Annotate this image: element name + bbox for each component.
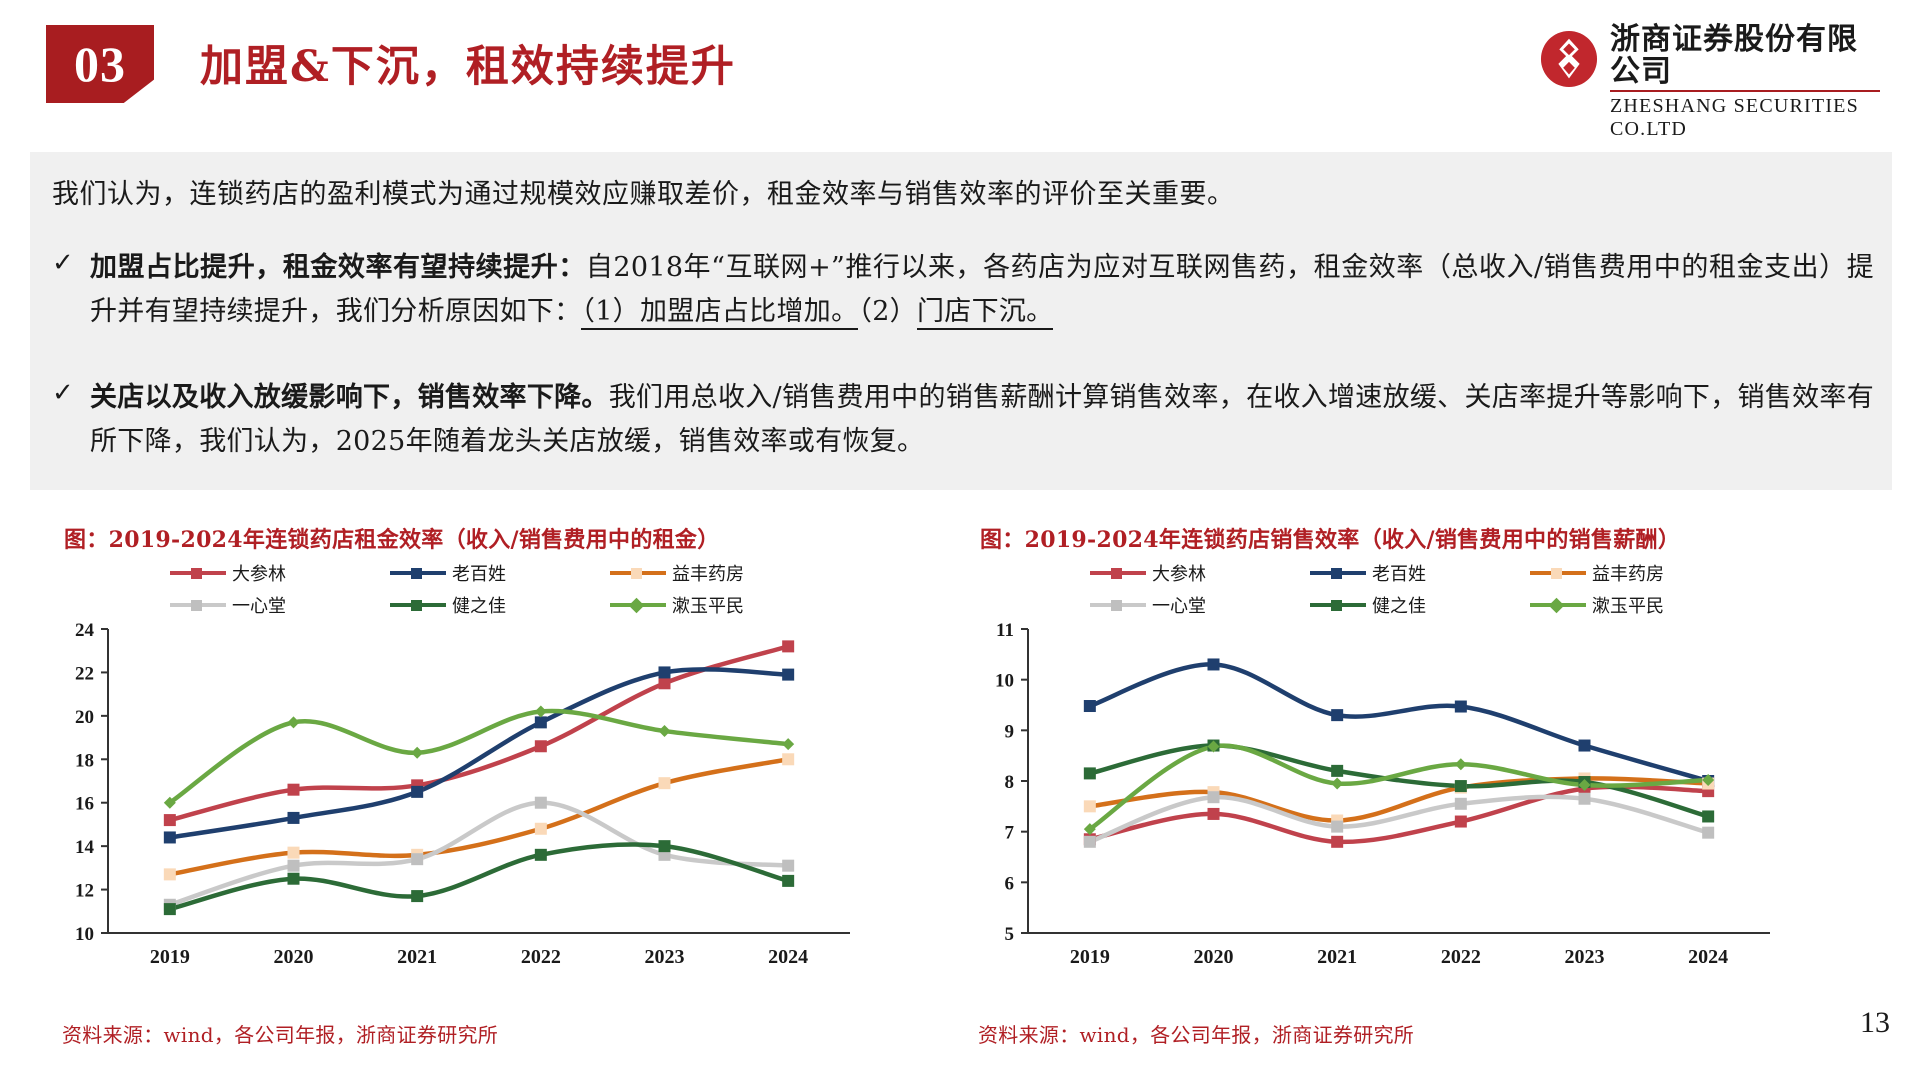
data-point (288, 784, 300, 796)
legend-swatch-icon (1530, 599, 1586, 611)
data-point (1455, 816, 1467, 828)
legend-item[interactable]: 老百姓 (1310, 560, 1530, 586)
legend-item[interactable]: 益丰药房 (610, 560, 830, 586)
data-point (411, 747, 423, 759)
data-point (1084, 836, 1096, 848)
y-tick-label: 5 (1005, 924, 1015, 945)
bullet-2-head: 关店以及收入放缓影响下，销售效率下降。 (90, 382, 609, 413)
bullet-1-underline-2: 门店下沉。 (917, 296, 1054, 330)
data-point (288, 812, 300, 824)
data-point (164, 831, 176, 843)
data-point (782, 669, 794, 681)
y-tick-label: 16 (75, 794, 94, 815)
legend-swatch-icon (610, 567, 666, 579)
summary-text-panel: 我们认为，连锁药店的盈利模式为通过规模效应赚取差价，租金效率与销售效率的评价至关… (30, 152, 1892, 490)
data-point (288, 847, 300, 859)
data-point (1579, 740, 1591, 752)
x-tick-label: 2020 (274, 946, 314, 968)
data-point (1702, 810, 1714, 822)
data-point (1455, 701, 1467, 713)
legend-label: 益丰药房 (1592, 560, 1664, 586)
chart-title: 图：2019-2024年连锁药店销售效率（收入/销售费用中的销售薪酬） (980, 522, 1680, 554)
zheshang-lotus-mark-icon (1540, 30, 1598, 88)
data-point (1084, 800, 1096, 812)
data-point (782, 860, 794, 872)
series-line-老百姓 (1090, 664, 1708, 781)
legend-swatch-icon (1090, 599, 1146, 611)
data-point (1331, 821, 1343, 833)
rent-efficiency-chart: 图：2019-2024年连锁药店租金效率（收入/销售费用中的租金） 大参林老百姓… (30, 500, 910, 1060)
bullet-item-2: ✓ 关店以及收入放缓影响下，销售效率下降。我们用总收入/销售费用中的销售薪酬计算… (52, 376, 1874, 463)
legend-item[interactable]: 大参林 (170, 560, 390, 586)
chart-plot-area: 1012141618202224201920202021202220232024 (30, 615, 910, 985)
x-tick-label: 2024 (1688, 946, 1728, 968)
data-point (411, 890, 423, 902)
data-point (782, 753, 794, 765)
y-tick-label: 6 (1005, 873, 1015, 894)
legend-swatch-icon (1310, 599, 1366, 611)
data-point (1208, 808, 1220, 820)
chart-source: 资料来源：wind，各公司年报，浙商证券研究所 (62, 1019, 498, 1048)
legend-item[interactable]: 老百姓 (390, 560, 610, 586)
data-point (288, 716, 300, 728)
data-point (535, 706, 547, 718)
data-point (535, 716, 547, 728)
legend-swatch-icon (170, 599, 226, 611)
x-tick-label: 2023 (1565, 946, 1605, 968)
data-point (1331, 836, 1343, 848)
data-point (288, 873, 300, 885)
chart-title: 图：2019-2024年连锁药店租金效率（收入/销售费用中的租金） (64, 522, 720, 554)
x-tick-label: 2020 (1194, 946, 1234, 968)
legend-label: 老百姓 (1372, 560, 1426, 586)
data-point (1208, 791, 1220, 803)
bullet-2-text: 关店以及收入放缓影响下，销售效率下降。我们用总收入/销售费用中的销售薪酬计算销售… (90, 376, 1874, 463)
data-point (535, 849, 547, 861)
section-number-badge: 03 (46, 25, 154, 103)
legend-label: 益丰药房 (672, 560, 744, 586)
logo-name-cn: 浙商证券股份有限公司 (1610, 24, 1880, 92)
x-tick-label: 2019 (150, 946, 190, 968)
series-line-老百姓 (170, 669, 788, 837)
y-tick-label: 9 (1005, 721, 1015, 742)
x-tick-label: 2021 (397, 946, 437, 968)
data-point (535, 823, 547, 835)
legend-item[interactable]: 益丰药房 (1530, 560, 1750, 586)
data-point (659, 840, 671, 852)
y-tick-label: 11 (996, 620, 1014, 641)
chart-source: 资料来源：wind，各公司年报，浙商证券研究所 (978, 1019, 1414, 1048)
y-tick-label: 20 (75, 707, 94, 728)
y-tick-label: 24 (75, 620, 95, 641)
data-point (288, 860, 300, 872)
page-title: 加盟&下沉，租效持续提升 (200, 32, 736, 94)
bullet-1-text: 加盟占比提升，租金效率有望持续提升：自2018年“互联网+”推行以来，各药店为应… (90, 246, 1874, 333)
data-point (782, 738, 794, 750)
check-icon: ✓ (52, 248, 74, 278)
x-tick-label: 2021 (1317, 946, 1357, 968)
data-point (1084, 767, 1096, 779)
legend-swatch-icon (390, 599, 446, 611)
legend-swatch-icon (170, 567, 226, 579)
bullet-item-1: ✓ 加盟占比提升，租金效率有望持续提升：自2018年“互联网+”推行以来，各药店… (52, 246, 1874, 333)
legend-label: 大参林 (1152, 560, 1206, 586)
x-tick-label: 2023 (645, 946, 685, 968)
x-tick-label: 2022 (1441, 946, 1481, 968)
y-tick-label: 14 (75, 837, 95, 858)
legend-swatch-icon (610, 599, 666, 611)
page-number: 13 (1860, 1006, 1890, 1040)
lead-paragraph: 我们认为，连锁药店的盈利模式为通过规模效应赚取差价，租金效率与销售效率的评价至关… (52, 176, 1874, 214)
x-tick-label: 2024 (768, 946, 808, 968)
y-tick-label: 22 (75, 663, 94, 684)
sales-efficiency-chart: 图：2019-2024年连锁药店销售效率（收入/销售费用中的销售薪酬） 大参林老… (950, 500, 1830, 1060)
data-point (1579, 793, 1591, 805)
data-point (411, 786, 423, 798)
legend-swatch-icon (1090, 567, 1146, 579)
legend-label: 老百姓 (452, 560, 506, 586)
data-point (1084, 700, 1096, 712)
data-point (1331, 778, 1343, 790)
bullet-1-head: 加盟占比提升，租金效率有望持续提升： (90, 252, 586, 283)
data-point (1455, 780, 1467, 792)
y-tick-label: 18 (75, 750, 94, 771)
data-point (659, 725, 671, 737)
data-point (782, 640, 794, 652)
y-tick-label: 7 (1005, 823, 1015, 844)
legend-label: 大参林 (232, 560, 286, 586)
data-point (164, 814, 176, 826)
legend-swatch-icon (1310, 567, 1366, 579)
y-tick-label: 10 (75, 924, 94, 945)
data-point (659, 677, 671, 689)
x-tick-label: 2022 (521, 946, 561, 968)
logo-name-en: ZHESHANG SECURITIES CO.LTD (1610, 95, 1880, 141)
company-logo: 浙商证券股份有限公司 ZHESHANG SECURITIES CO.LTD (1540, 20, 1880, 100)
data-point (535, 740, 547, 752)
data-point (1702, 827, 1714, 839)
chart-plot-area: 567891011201920202021202220232024 (950, 615, 1830, 985)
data-point (535, 797, 547, 809)
legend-swatch-icon (390, 567, 446, 579)
data-point (659, 777, 671, 789)
check-icon: ✓ (52, 378, 74, 408)
slide-header: 03 加盟&下沉，租效持续提升 浙商证券股份有限公司 ZHESHANG SECU… (0, 0, 1920, 120)
data-point (782, 875, 794, 887)
data-point (164, 903, 176, 915)
y-tick-label: 10 (995, 671, 1014, 692)
legend-swatch-icon (1530, 567, 1586, 579)
y-tick-label: 8 (1005, 772, 1015, 793)
series-line-健之佳 (170, 844, 788, 909)
chart-legend: 大参林老百姓益丰药房一心堂健之佳漱玉平民 (170, 560, 830, 618)
chart-legend: 大参林老百姓益丰药房一心堂健之佳漱玉平民 (1090, 560, 1750, 618)
y-tick-label: 12 (75, 881, 94, 902)
data-point (659, 666, 671, 678)
data-point (411, 853, 423, 865)
series-line-大参林 (1090, 787, 1708, 842)
bullet-1-underline-1: （1）加盟店占比增加。 (581, 296, 858, 330)
slide-page: 03 加盟&下沉，租效持续提升 浙商证券股份有限公司 ZHESHANG SECU… (0, 0, 1920, 1080)
series-line-益丰药房 (170, 759, 788, 874)
bullet-1-mid: （2） (858, 296, 917, 327)
data-point (1331, 765, 1343, 777)
data-point (1455, 798, 1467, 810)
x-tick-label: 2019 (1070, 946, 1110, 968)
data-point (1208, 658, 1220, 670)
data-point (1331, 709, 1343, 721)
legend-item[interactable]: 大参林 (1090, 560, 1310, 586)
data-point (1455, 758, 1467, 770)
data-point (164, 868, 176, 880)
